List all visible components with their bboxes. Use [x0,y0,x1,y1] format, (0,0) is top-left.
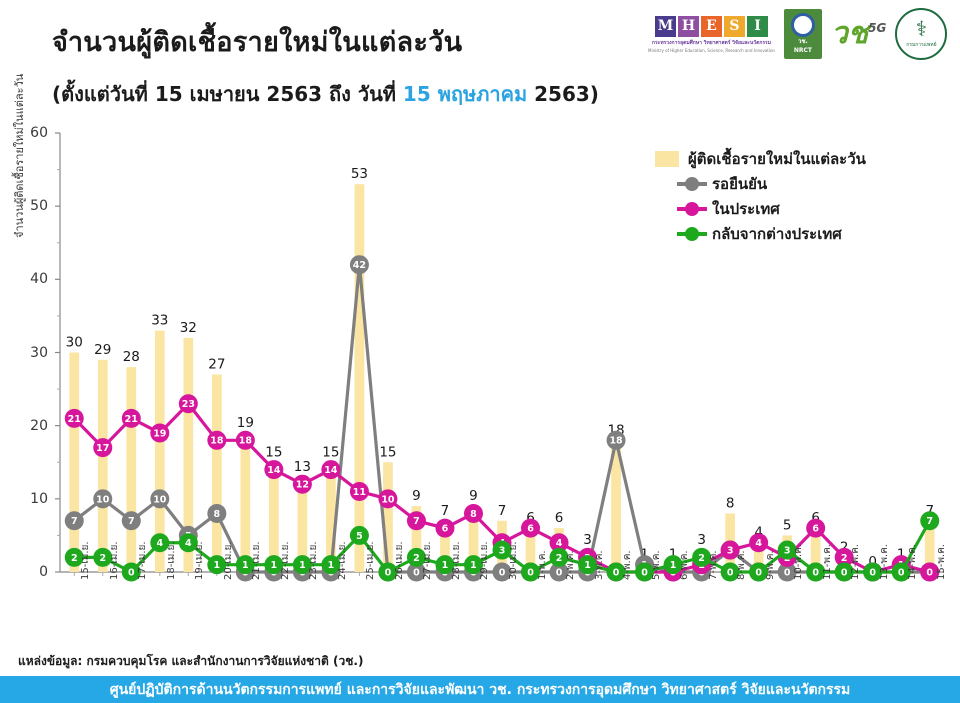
x-tick-label: 3-พ.ค. [592,550,607,580]
bar-value-label: 7 [441,503,450,519]
x-tick-label: 6-พ.ค. [677,550,692,580]
domestic-value-label: 12 [296,480,309,491]
bar-value-label: 15 [265,444,282,460]
bar [355,184,365,572]
caduceus-icon: ⚕ [916,19,927,40]
imported-value-label: 1 [328,560,335,571]
x-tick-label: 29-เม.ย. [477,541,492,580]
mhesi-letter-i: I [747,16,768,37]
dms-label: กรมการแพทย์ [906,41,936,49]
wo-5g-label: 5G [868,21,886,35]
bar-value-label: 53 [351,166,368,182]
domestic-value-label: 6 [442,524,449,535]
bar-value-label: 29 [94,342,111,358]
chart-legend: ผู้ติดเชื้อรายใหม่ในแต่ละวัน รอยืนยัน ใน… [655,146,866,246]
bar-value-label: 15 [379,444,396,460]
x-tick-label: 13-พ.ค. [877,544,892,580]
domestic-value-label: 7 [413,516,420,527]
x-tick-label: 25-เม.ย. [363,541,378,580]
domestic-value-label: 0 [926,567,933,578]
mhesi-letter-e: E [701,16,722,37]
bar-value-label: 30 [66,335,83,351]
imported-value-label: 0 [898,567,905,578]
bar-value-label: 7 [498,503,507,519]
x-tick-label: 15-เม.ย. [78,541,93,580]
footer-ribbon: ศูนย์ปฏิบัติการด้านนวัตกรรมการแพทย์ และก… [0,676,960,703]
x-tick-label: 20-เม.ย. [221,541,236,580]
y-tick-label: 60 [14,125,48,141]
legend-item-pending: รอยืนยัน [655,171,866,196]
legend-label-domestic: ในประเทศ [712,197,780,221]
x-tick-label: 1-พ.ค. [535,550,550,580]
domestic-value-label: 4 [556,538,563,549]
x-tick-label: 8-พ.ค. [734,550,749,580]
imported-value-label: 2 [71,553,78,564]
legend-swatch-bar [655,151,679,167]
imported-value-label: 7 [926,516,933,527]
bar-value-label: 28 [123,349,140,365]
wo-logo: วช5G [831,19,886,49]
imported-value-label: 2 [413,553,420,564]
x-tick-label: 16-เม.ย. [107,541,122,580]
imported-value-label: 2 [698,553,705,564]
x-tick-label: 7-พ.ค. [706,550,721,580]
subtitle-suffix: 2563) [527,82,599,106]
x-tick-label: 11-พ.ค. [820,544,835,580]
x-tick-label: 18-เม.ย. [164,541,179,580]
domestic-value-label: 6 [812,524,819,535]
domestic-value-label: 3 [727,545,734,556]
nrct-logo: วช. NRCT [784,9,822,59]
x-tick-label: 17-เม.ย. [135,541,150,580]
mhesi-letters: M H E S I [655,16,768,37]
x-tick-label: 12-พ.ค. [848,544,863,580]
imported-value-label: 5 [356,531,363,542]
bar-value-label: 3 [697,532,706,548]
bar-value-label: 15 [322,444,339,460]
logo-bar: M H E S I กระทรวงการอุดมศึกษา วิทยาศาสตร… [648,6,954,62]
domestic-value-label: 17 [96,443,109,454]
x-tick-label: 28-เม.ย. [449,541,464,580]
imported-value-label: 0 [727,567,734,578]
mhesi-thai-name: กระทรวงการอุดมศึกษา วิทยาศาสตร์ วิจัยและ… [652,39,771,47]
x-tick-label: 2-พ.ค. [563,550,578,580]
pending-value-label: 10 [96,494,110,505]
domestic-value-label: 23 [182,399,195,410]
y-tick-label: 30 [14,345,48,361]
bar-value-label: 5 [783,517,792,533]
bar-value-label: 27 [208,356,225,372]
x-tick-label: 9-พ.ค. [763,550,778,580]
bar-value-label: 3 [583,532,592,548]
pending-value-label: 10 [153,494,167,505]
legend-dot-imported [685,227,699,241]
imported-value-label: 0 [755,567,762,578]
mhesi-letter-s: S [724,16,745,37]
pending-value-label: 8 [214,509,221,520]
pending-value-label: 0 [499,567,506,578]
imported-value-label: 0 [385,567,392,578]
pending-value-label: 0 [784,567,791,578]
pending-value-label: 7 [71,516,78,527]
imported-value-label: 0 [128,567,135,578]
mhesi-english-name: Ministry of Higher Education, Science, R… [648,48,775,53]
domestic-value-label: 21 [68,414,81,425]
imported-value-label: 1 [470,560,477,571]
page-subtitle: (ตั้งแต่วันที่ 15 เมษายน 2563 ถึง วันที่… [52,78,599,110]
bar-value-label: 19 [237,415,254,431]
page-title: จำนวนผู้ติดเชื้อรายใหม่ในแต่ละวัน [52,20,462,63]
domestic-value-label: 4 [755,538,762,549]
x-tick-label: 22-เม.ย. [278,541,293,580]
pending-value-label: 18 [609,436,623,447]
imported-value-label: 1 [271,560,278,571]
imported-value-label: 3 [499,545,506,556]
domestic-value-label: 14 [267,465,281,476]
x-tick-label: 19-เม.ย. [192,541,207,580]
bar-value-label: 8 [726,495,735,511]
pending-value-label: 7 [128,516,135,527]
mhesi-logo: M H E S I กระทรวงการอุดมศึกษา วิทยาศาสตร… [648,16,775,53]
y-tick-label: 0 [14,564,48,580]
bar-value-label: 32 [180,320,197,336]
legend-line-domestic [677,207,707,211]
imported-value-label: 4 [156,538,163,549]
imported-value-label: 1 [442,560,449,571]
y-tick-label: 50 [14,198,48,214]
legend-dot-domestic [685,202,699,216]
imported-value-label: 0 [641,567,648,578]
bar-value-label: 9 [469,488,478,504]
x-tick-label: 27-เม.ย. [420,541,435,580]
imported-value-label: 1 [299,560,306,571]
pending-value-label: 0 [556,567,563,578]
imported-value-label: 0 [613,567,620,578]
bar-value-label: 13 [294,459,311,475]
legend-label-imported: กลับจากต่างประเทศ [712,222,842,246]
mhesi-letter-m: M [655,16,676,37]
imported-value-label: 1 [214,560,221,571]
x-tick-label: 15-พ.ค. [934,544,949,580]
bar-value-label: 9 [412,488,421,504]
legend-dot-pending [685,177,699,191]
imported-value-label: 1 [670,560,677,571]
x-tick-label: 10-พ.ค. [791,544,806,580]
x-tick-label: 24-เม.ย. [335,541,350,580]
imported-value-label: 1 [242,560,249,571]
imported-value-label: 0 [869,567,876,578]
x-tick-label: 4-พ.ค. [620,550,635,580]
imported-value-label: 0 [527,567,534,578]
domestic-value-label: 14 [324,465,338,476]
domestic-value-label: 10 [381,494,395,505]
mhesi-letter-h: H [678,16,699,37]
subtitle-prefix: (ตั้งแต่วันที่ 15 เมษายน 2563 ถึง วันที่ [52,82,403,106]
domestic-value-label: 18 [239,436,253,447]
bar-value-label: 6 [555,510,564,526]
imported-value-label: 0 [812,567,819,578]
legend-item-bar: ผู้ติดเชื้อรายใหม่ในแต่ละวัน [655,146,866,171]
imported-value-label: 0 [841,567,848,578]
legend-label-pending: รอยืนยัน [712,172,767,196]
x-tick-label: 26-เม.ย. [392,541,407,580]
gear-icon [791,13,815,37]
imported-value-label: 1 [584,560,591,571]
bar-value-label: 33 [151,313,168,329]
imported-value-label: 3 [784,545,791,556]
dms-logo: ⚕ กรมการแพทย์ [895,8,947,60]
pending-value-label: 42 [353,260,366,271]
y-tick-label: 20 [14,418,48,434]
legend-line-pending [677,182,707,186]
domestic-value-label: 8 [470,509,477,520]
x-tick-label: 14-พ.ค. [905,544,920,580]
chart-page: จำนวนผู้ติดเชื้อรายใหม่ในแต่ละวัน (ตั้งแ… [0,0,960,703]
wo-mark: วช [831,16,868,51]
bar [98,360,108,572]
domestic-value-label: 2 [841,553,848,564]
footer-ribbon-text: ศูนย์ปฏิบัติการด้านนวัตกรรมการแพทย์ และก… [110,679,851,701]
domestic-value-label: 21 [125,414,138,425]
imported-value-label: 2 [99,553,106,564]
nrct-thai-label: วช. [798,39,808,46]
nrct-abbr-label: NRCT [794,48,812,55]
x-tick-label: 5-พ.ค. [649,550,664,580]
domestic-value-label: 11 [353,487,366,498]
bar [69,353,79,573]
imported-value-label: 2 [556,553,563,564]
source-note: แหล่งข้อมูล: กรมควบคุมโรค และสำนักงานการ… [18,652,363,671]
subtitle-highlight: 15 พฤษภาคม [403,82,527,106]
x-tick-label: 23-เม.ย. [306,541,321,580]
imported-value-label: 4 [185,538,192,549]
legend-line-imported [677,232,707,236]
legend-item-domestic: ในประเทศ [655,196,866,221]
y-tick-label: 40 [14,271,48,287]
legend-label-bar: ผู้ติดเชื้อรายใหม่ในแต่ละวัน [688,147,866,171]
domestic-value-label: 18 [210,436,224,447]
domestic-value-label: 19 [153,428,166,439]
x-tick-label: 21-เม.ย. [249,541,264,580]
y-tick-label: 10 [14,491,48,507]
domestic-value-label: 6 [527,524,534,535]
legend-item-imported: กลับจากต่างประเทศ [655,221,866,246]
x-tick-label: 30-เม.ย. [506,541,521,580]
